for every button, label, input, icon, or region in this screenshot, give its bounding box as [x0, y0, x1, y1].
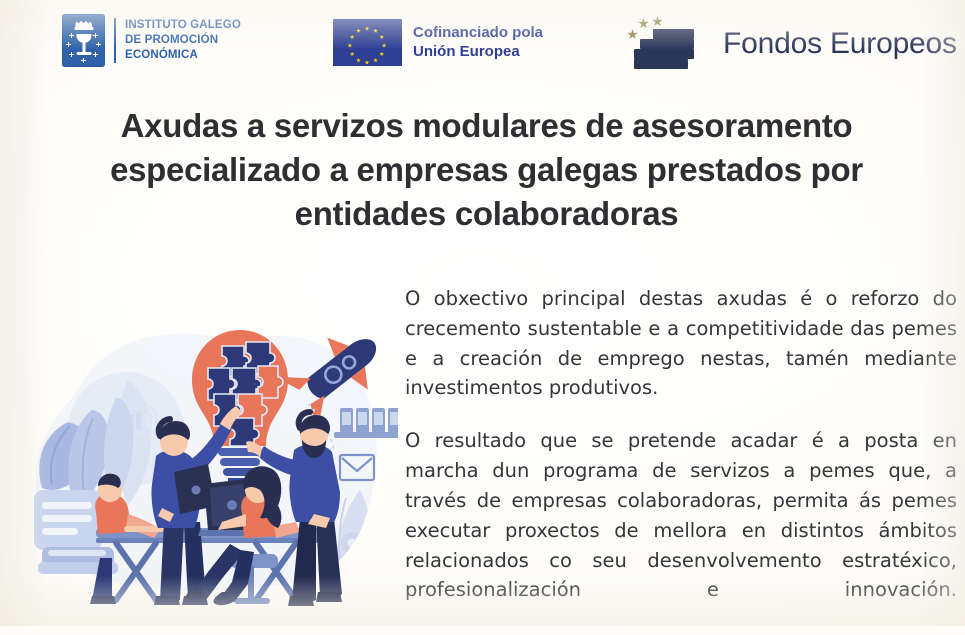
igape-line-3: ECONÓMICA [125, 48, 241, 63]
eu-line-2: Unión Europea [413, 43, 543, 62]
logo-fondos-europeos: Fondos Europeos [622, 14, 957, 74]
european-union-flag-icon [333, 19, 402, 66]
igape-line-1: INSTITUTO GALEGO [125, 18, 241, 33]
logo-igape-text: INSTITUTO GALEGO DE PROMOCIÓN ECONÓMICA [114, 18, 241, 64]
fondos-europeos-bars-icon [622, 14, 710, 74]
logo-bar: INSTITUTO GALEGO DE PROMOCIÓN ECONÓMICA [0, 8, 965, 86]
logo-igape: INSTITUTO GALEGO DE PROMOCIÓN ECONÓMICA [62, 14, 241, 67]
paragraph-2: O resultado que se pretende acadar é a p… [405, 426, 957, 635]
logo-european-union: Cofinanciado pola Unión Europea [333, 19, 543, 66]
body-text: O obxectivo principal destas axudas é o … [405, 284, 957, 635]
igape-line-2: DE PROMOCIÓN [125, 33, 241, 48]
galicia-coat-of-arms-icon [62, 14, 105, 67]
poster-page: INSTITUTO GALEGO DE PROMOCIÓN ECONÓMICA [0, 0, 965, 626]
logo-eu-text: Cofinanciado pola Unión Europea [413, 24, 543, 61]
page-title: Axudas a servizos modulares de asesorame… [30, 104, 943, 237]
logo-fondos-europeos-label: Fondos Europeos [723, 27, 957, 61]
paragraph-1: O obxectivo principal destas axudas é o … [405, 284, 957, 403]
team-brainstorming-illustration [8, 300, 398, 620]
eu-line-1: Cofinanciado pola [413, 24, 543, 43]
